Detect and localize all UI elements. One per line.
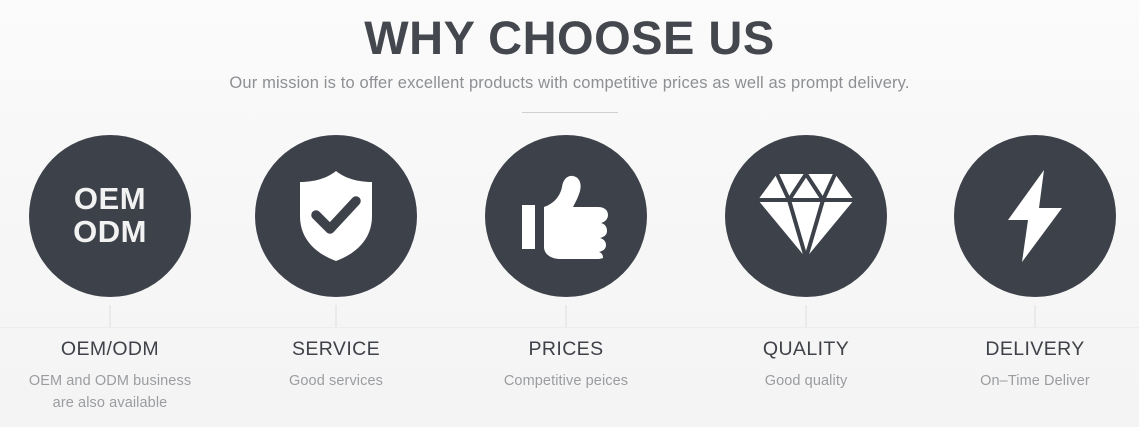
feature-label: SERVICE <box>221 338 451 361</box>
feature-icon-circle: OEM ODM <box>29 135 191 297</box>
shield-check-icon <box>293 170 379 262</box>
oem-line: OEM <box>73 183 147 216</box>
connector-tick <box>336 305 337 327</box>
connector-tick <box>1035 305 1036 327</box>
thumbs-up-icon <box>520 173 612 259</box>
feature-description: Good quality <box>691 370 921 392</box>
diamond-icon <box>756 172 856 260</box>
feature-label: PRICES <box>451 338 681 361</box>
page-title: WHY CHOOSE US <box>0 12 1139 65</box>
feature-item-oem-odm[interactable]: OEM ODM OEM/ODM OEM and ODM business are… <box>0 135 225 297</box>
title-divider <box>522 112 618 113</box>
feature-icon-circle <box>954 135 1116 297</box>
feature-description: On–Time Deliver <box>920 370 1139 392</box>
feature-icon-circle <box>725 135 887 297</box>
feature-item-prices[interactable]: PRICES Competitive peices <box>451 135 681 297</box>
feature-description: Good services <box>221 370 451 392</box>
feature-label: DELIVERY <box>920 338 1139 361</box>
feature-item-delivery[interactable]: DELIVERY On–Time Deliver <box>920 135 1139 297</box>
feature-divider-rule <box>0 327 1139 328</box>
feature-description: Competitive peices <box>451 370 681 392</box>
feature-label: QUALITY <box>691 338 921 361</box>
page-subtitle: Our mission is to offer excellent produc… <box>0 74 1139 93</box>
feature-list: OEM ODM OEM/ODM OEM and ODM business are… <box>0 135 1139 427</box>
connector-tick <box>566 305 567 327</box>
feature-icon-circle <box>255 135 417 297</box>
odm-line: ODM <box>73 216 147 249</box>
lightning-bolt-icon <box>1004 168 1066 264</box>
oem-odm-text-icon: OEM ODM <box>73 183 147 249</box>
header: WHY CHOOSE US Our mission is to offer ex… <box>0 0 1139 113</box>
feature-description: OEM and ODM business are also available <box>0 370 225 414</box>
connector-tick <box>806 305 807 327</box>
feature-item-quality[interactable]: QUALITY Good quality <box>691 135 921 297</box>
feature-item-service[interactable]: SERVICE Good services <box>221 135 451 297</box>
connector-tick <box>110 305 111 327</box>
feature-icon-circle <box>485 135 647 297</box>
feature-label: OEM/ODM <box>0 338 225 361</box>
